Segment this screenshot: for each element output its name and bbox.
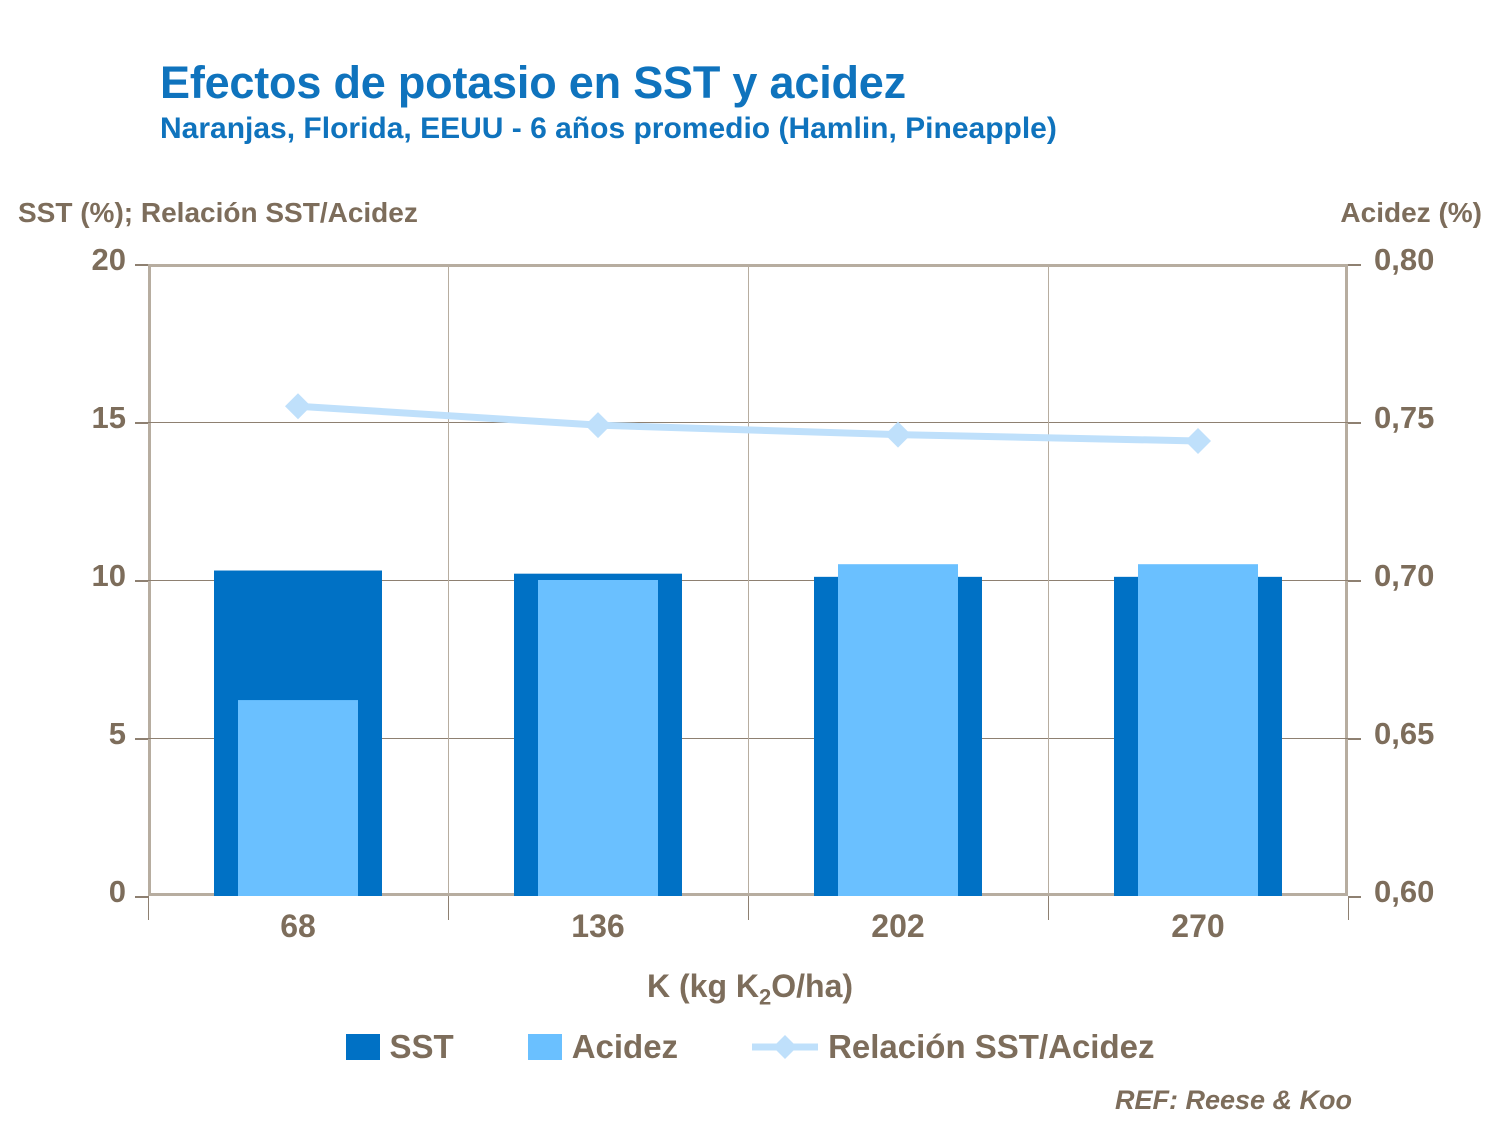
bar-acidez-270 — [1138, 564, 1258, 896]
tick-mark — [135, 422, 148, 424]
x-tick-mark — [1048, 896, 1049, 920]
bar-acidez-136 — [538, 580, 658, 896]
y-axis-tick-5: 5 — [109, 716, 126, 752]
legend-swatch-icon — [346, 1034, 380, 1060]
plot-area — [148, 264, 1348, 896]
x-tick-mark — [148, 896, 149, 920]
y-axis-tick-10: 10 — [92, 558, 126, 594]
tick-mark — [135, 264, 148, 266]
x-axis-title: K (kg K2O/ha) — [0, 968, 1500, 1010]
x-tick-mark — [1348, 896, 1349, 920]
chart-subtitle: Naranjas, Florida, EEUU - 6 años promedi… — [160, 108, 1460, 150]
bar-acidez-202 — [838, 564, 958, 896]
y2-axis-tick-0,70: 0,70 — [1374, 558, 1434, 594]
marker-ratio-136 — [585, 412, 611, 438]
legend-line-diamond-icon — [752, 1034, 818, 1060]
tick-mark — [135, 580, 148, 582]
y-axis-tick-0: 0 — [109, 874, 126, 910]
x-tick-mark — [448, 896, 449, 920]
legend-label: SST — [390, 1028, 454, 1066]
legend-label: Relación SST/Acidez — [828, 1028, 1154, 1066]
chart-legend: SSTAcidezRelación SST/Acidez — [0, 1028, 1500, 1066]
y-axis-tick-15: 15 — [92, 400, 126, 436]
y2-axis-tick-0,60: 0,60 — [1374, 874, 1434, 910]
marker-ratio-68 — [285, 393, 311, 419]
right-axis-title: Acidez (%) — [1340, 197, 1482, 229]
series-canvas — [148, 264, 1348, 896]
tick-mark — [1348, 738, 1361, 740]
y-axis-tick-20: 20 — [92, 242, 126, 278]
x-axis-title-subscript: 2 — [759, 984, 771, 1009]
title-block: Efectos de potasio en SST y acidez Naran… — [160, 58, 1460, 150]
x-axis-tick-136: 136 — [498, 908, 698, 945]
legend-label: Acidez — [572, 1028, 678, 1066]
y2-axis-tick-0,65: 0,65 — [1374, 716, 1434, 752]
x-axis-tick-68: 68 — [198, 908, 398, 945]
tick-mark — [1348, 580, 1361, 582]
tick-mark — [1348, 896, 1361, 898]
marker-ratio-270 — [1185, 428, 1211, 454]
bar-acidez-68 — [238, 700, 358, 896]
y2-axis-tick-0,75: 0,75 — [1374, 400, 1434, 436]
x-axis-tick-202: 202 — [798, 908, 998, 945]
tick-mark — [1348, 422, 1361, 424]
x-axis-tick-270: 270 — [1098, 908, 1298, 945]
tick-mark — [1348, 264, 1361, 266]
legend-item-0[interactable]: SST — [346, 1028, 454, 1066]
legend-item-2[interactable]: Relación SST/Acidez — [752, 1028, 1154, 1066]
legend-swatch-icon — [528, 1034, 562, 1060]
reference-note: REF: Reese & Koo — [1115, 1085, 1352, 1116]
chart-title: Efectos de potasio en SST y acidez — [160, 58, 1460, 108]
x-tick-mark — [748, 896, 749, 920]
line-ratio-sst-acidez — [298, 406, 1198, 441]
marker-ratio-202 — [885, 422, 911, 448]
tick-mark — [135, 896, 148, 898]
y2-axis-tick-0,80: 0,80 — [1374, 242, 1434, 278]
tick-mark — [135, 738, 148, 740]
left-axis-title: SST (%); Relación SST/Acidez — [18, 197, 418, 229]
legend-item-1[interactable]: Acidez — [528, 1028, 678, 1066]
